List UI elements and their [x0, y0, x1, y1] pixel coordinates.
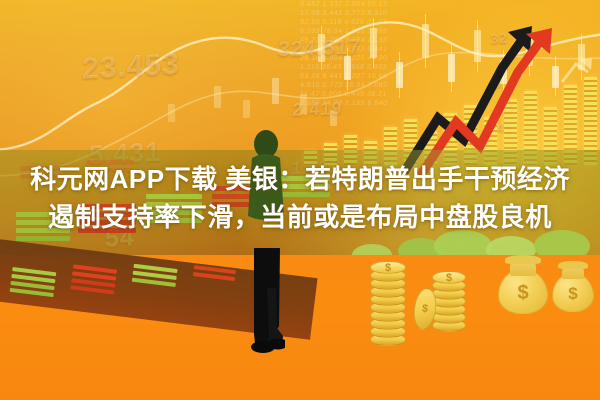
person-legs-silhouette: [249, 248, 285, 354]
money-bag-dollar-symbol: $: [498, 282, 548, 305]
money-bag-1: $: [498, 256, 548, 314]
news-thumbnail-image: 0.482 1.337 2.904 55.12 17.09 3.441 0.77…: [0, 0, 600, 400]
coin-dollar-symbol: $: [371, 262, 405, 273]
coin-stack-right: $: [432, 260, 466, 332]
money-bag-dollar-symbol: $: [552, 284, 594, 304]
coin-stack-left: $: [370, 258, 406, 346]
money-bag-tie: [505, 255, 541, 264]
money-bag-2: $: [552, 262, 594, 312]
headline-text: 科元网APP下载 美银：若特朗普出手干预经济 遏制支持率下滑，当前或是布局中盘股…: [0, 160, 600, 236]
money-bag-tie: [558, 261, 588, 269]
headline-line-1: 科元网APP下载 美银：若特朗普出手干预经济: [0, 160, 600, 198]
coin-dollar-symbol: $: [421, 303, 429, 316]
headline-line-2: 遏制支持率下滑，当前或是布局中盘股良机: [0, 198, 600, 236]
coin-dollar-symbol: $: [433, 272, 465, 283]
